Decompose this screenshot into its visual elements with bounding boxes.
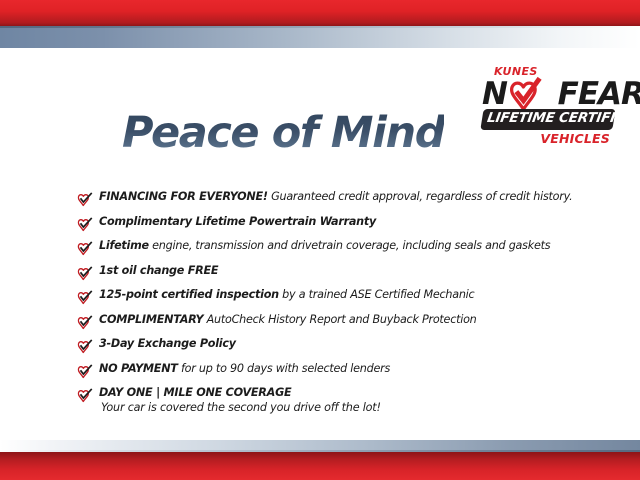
headline-line-1: Drive off with — [78, 78, 444, 110]
list-item-strong: DAY ONE | MILE ONE COVERAGE — [99, 386, 291, 399]
heart-check-icon — [76, 241, 93, 256]
heart-check-icon — [76, 388, 93, 403]
list-item-rest: engine, transmission and drivetrain cove… — [149, 239, 550, 252]
top-red-stripe — [0, 0, 640, 26]
list-item: 1st oil change FREE — [76, 264, 596, 281]
logo-band-text: LIFETIME CERTIFIED — [486, 112, 610, 126]
list-item: Complimentary Lifetime Powertrain Warran… — [76, 215, 596, 232]
list-item-text: 125-point certified inspection by a trai… — [99, 288, 596, 301]
heart-check-icon — [76, 217, 93, 232]
list-item: Lifetime engine, transmission and drivet… — [76, 239, 596, 256]
content-card: Drive off with Peace of Mind KUNES NOOFE… — [0, 48, 640, 440]
list-item-strong: Lifetime — [99, 239, 149, 252]
heart-check-icon — [76, 266, 93, 281]
list-item: 3-Day Exchange Policy — [76, 337, 596, 354]
list-item: FINANCING FOR EVERYONE! Guaranteed credi… — [76, 190, 596, 207]
logo-letter-n: N — [482, 76, 507, 112]
list-item: 125-point certified inspection by a trai… — [76, 288, 596, 305]
list-item-strong: 3-Day Exchange Policy — [99, 337, 236, 350]
ad-banner: Drive off with Peace of Mind KUNES NOOFE… — [0, 0, 640, 480]
list-item-strong: NO PAYMENT — [99, 362, 178, 375]
headline-line-2: Peace of Mind — [122, 112, 444, 155]
list-item-strong: 125-point certified inspection — [99, 288, 279, 301]
benefits-list: FINANCING FOR EVERYONE! Guaranteed credi… — [76, 190, 596, 422]
logo-word-fear: FEAR — [558, 76, 640, 112]
logo-lifetime-certified-band: LIFETIME CERTIFIED — [480, 109, 615, 130]
list-item: COMPLIMENTARY AutoCheck History Report a… — [76, 313, 596, 330]
list-item-strong: FINANCING FOR EVERYONE! — [99, 190, 268, 203]
heart-check-icon — [76, 315, 93, 330]
headline: Drive off with Peace of Mind — [78, 78, 444, 155]
list-item-rest: Guaranteed credit approval, regardless o… — [268, 190, 573, 203]
heart-check-icon — [76, 290, 93, 305]
list-item-text: 3-Day Exchange Policy — [99, 337, 596, 350]
heart-check-icon — [76, 364, 93, 379]
list-item-strong: Complimentary Lifetime Powertrain Warran… — [99, 215, 376, 228]
logo-footer-vehicles: VEHICLES — [482, 133, 610, 146]
list-item-rest: AutoCheck History Report and Buyback Pro… — [203, 313, 476, 326]
list-item-text: Lifetime engine, transmission and drivet… — [99, 239, 596, 252]
list-item-text: Complimentary Lifetime Powertrain Warran… — [99, 215, 596, 228]
logo-no-fear-text: NOOFEAR — [482, 78, 614, 110]
list-item-text: COMPLIMENTARY AutoCheck History Report a… — [99, 313, 596, 326]
list-item-strong: 1st oil change FREE — [99, 264, 218, 277]
list-item: DAY ONE | MILE ONE COVERAGE Your car is … — [76, 386, 596, 415]
heart-check-icon — [76, 339, 93, 354]
top-slate-stripe — [0, 26, 640, 48]
bottom-slate-stripe — [0, 440, 640, 452]
list-item-rest: for up to 90 days with selected lenders — [178, 362, 390, 375]
logo-no-fear-wordmark: NOOFEAR — [482, 78, 614, 110]
list-item-strong: COMPLIMENTARY — [99, 313, 203, 326]
kunes-no-fear-logo: KUNES NOOFEAR LIFETIME CERTIFIED VEHICLE… — [482, 66, 614, 145]
list-item-text: 1st oil change FREE — [99, 264, 596, 277]
list-item: NO PAYMENT for up to 90 days with select… — [76, 362, 596, 379]
list-item-rest: by a trained ASE Certified Mechanic — [279, 288, 475, 301]
list-item-text: FINANCING FOR EVERYONE! Guaranteed credi… — [99, 190, 596, 203]
list-item-text: NO PAYMENT for up to 90 days with select… — [99, 362, 596, 375]
heart-check-icon — [76, 192, 93, 207]
list-item-text: DAY ONE | MILE ONE COVERAGE Your car is … — [99, 386, 596, 415]
bottom-red-stripe — [0, 452, 640, 480]
list-item-subtext: Your car is covered the second you drive… — [101, 401, 596, 414]
